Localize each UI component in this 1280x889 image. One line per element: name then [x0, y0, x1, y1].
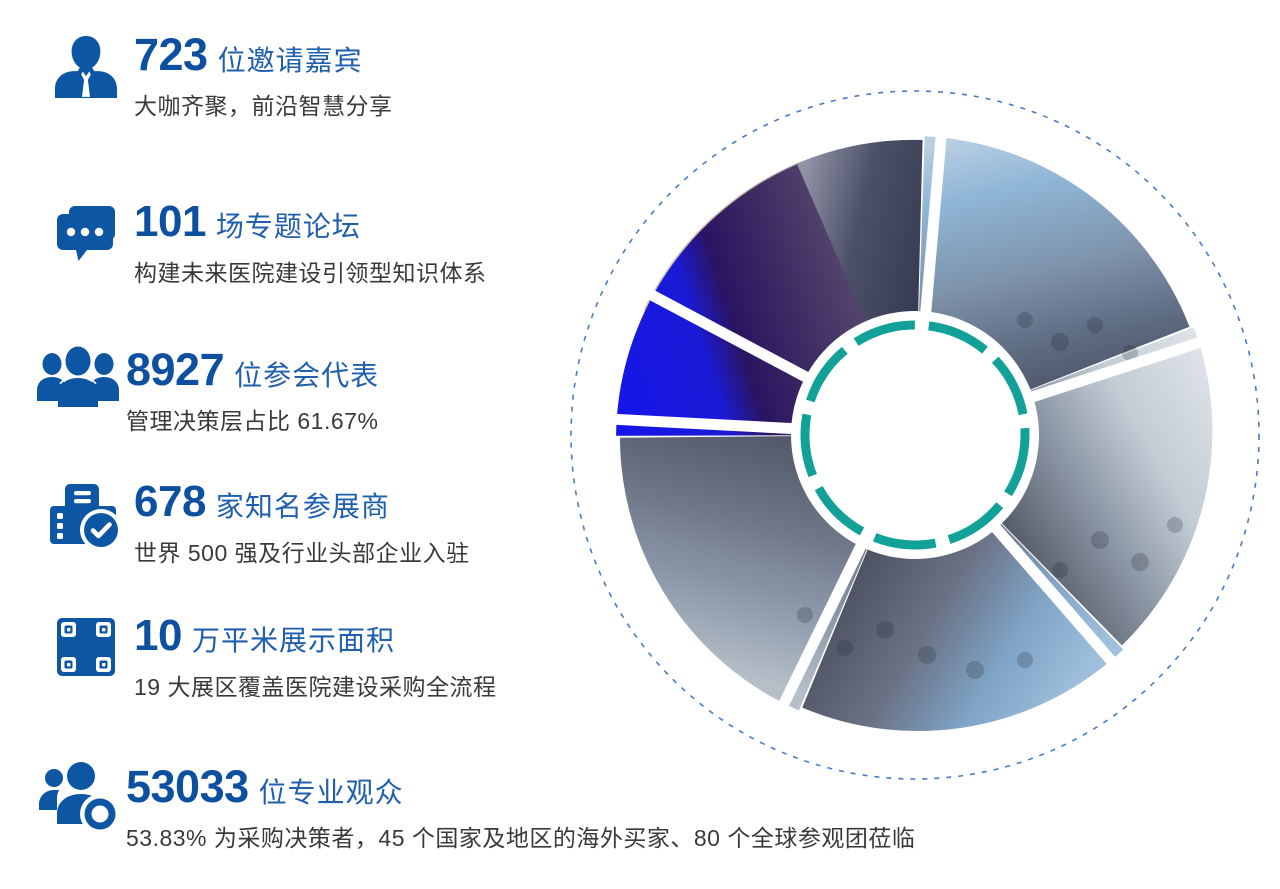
stat-headline: 723 位邀请嘉宾 — [134, 32, 393, 77]
stat-number: 53033 — [126, 764, 249, 809]
stat-text: 723 位邀请嘉宾 大咖齐聚，前沿智慧分享 — [134, 30, 393, 121]
stat-label: 家知名参展商 — [216, 493, 390, 521]
stat-row: 678 家知名参展商 世界 500 强及行业头部企业入驻 — [38, 478, 470, 568]
stat-text: 8927 位参会代表 管理决策层占比 61.67% — [126, 345, 379, 436]
stat-label: 场专题论坛 — [216, 213, 361, 241]
stat-row: 723 位邀请嘉宾 大咖齐聚，前沿智慧分享 — [38, 30, 393, 121]
stat-subtitle: 管理决策层占比 61.67% — [126, 408, 379, 436]
stat-row: 8927 位参会代表 管理决策层占比 61.67% — [30, 345, 379, 436]
stat-number: 10 — [134, 614, 182, 658]
stat-subtitle: 19 大展区覆盖医院建设采购全流程 — [134, 674, 496, 702]
speech-bubbles-icon — [38, 198, 134, 272]
stat-label: 万平米展示面积 — [192, 627, 395, 655]
stat-label: 位参会代表 — [234, 362, 379, 390]
stat-headline: 678 家知名参展商 — [134, 480, 470, 524]
stat-subtitle: 大咖齐聚，前沿智慧分享 — [134, 93, 393, 121]
donut-hole — [791, 311, 1039, 559]
stat-number: 8927 — [126, 347, 224, 392]
people-group-icon — [30, 345, 126, 415]
stat-text: 10 万平米展示面积 19 大展区覆盖医院建设采购全流程 — [134, 612, 496, 702]
stat-label: 位邀请嘉宾 — [218, 47, 363, 75]
stat-row: 101 场专题论坛 构建未来医院建设引领型知识体系 — [38, 198, 487, 288]
stat-number: 101 — [134, 200, 206, 244]
stat-headline: 101 场专题论坛 — [134, 200, 487, 244]
stat-number: 723 — [134, 32, 208, 77]
visitors-icon — [30, 762, 126, 832]
circular-photo-collage — [555, 70, 1275, 800]
stat-subtitle: 构建未来医院建设引领型知识体系 — [134, 260, 487, 288]
area-frame-icon — [38, 612, 134, 682]
stat-headline: 8927 位参会代表 — [126, 347, 379, 392]
stat-text: 101 场专题论坛 构建未来医院建设引领型知识体系 — [134, 198, 487, 288]
stat-text: 678 家知名参展商 世界 500 强及行业头部企业入驻 — [134, 478, 470, 568]
infographic-page: 723 位邀请嘉宾 大咖齐聚，前沿智慧分享 — [0, 0, 1280, 889]
verified-building-icon — [38, 478, 134, 550]
stat-label: 位专业观众 — [259, 779, 404, 807]
stat-row: 10 万平米展示面积 19 大展区覆盖医院建设采购全流程 — [38, 612, 496, 702]
stat-headline: 10 万平米展示面积 — [134, 614, 496, 658]
stat-subtitle: 世界 500 强及行业头部企业入驻 — [134, 540, 470, 568]
businessman-icon — [38, 30, 134, 104]
stat-number: 678 — [134, 480, 206, 524]
stat-subtitle: 53.83% 为采购决策者，45 个国家及地区的海外买家、80 个全球参观团莅临 — [126, 825, 915, 853]
